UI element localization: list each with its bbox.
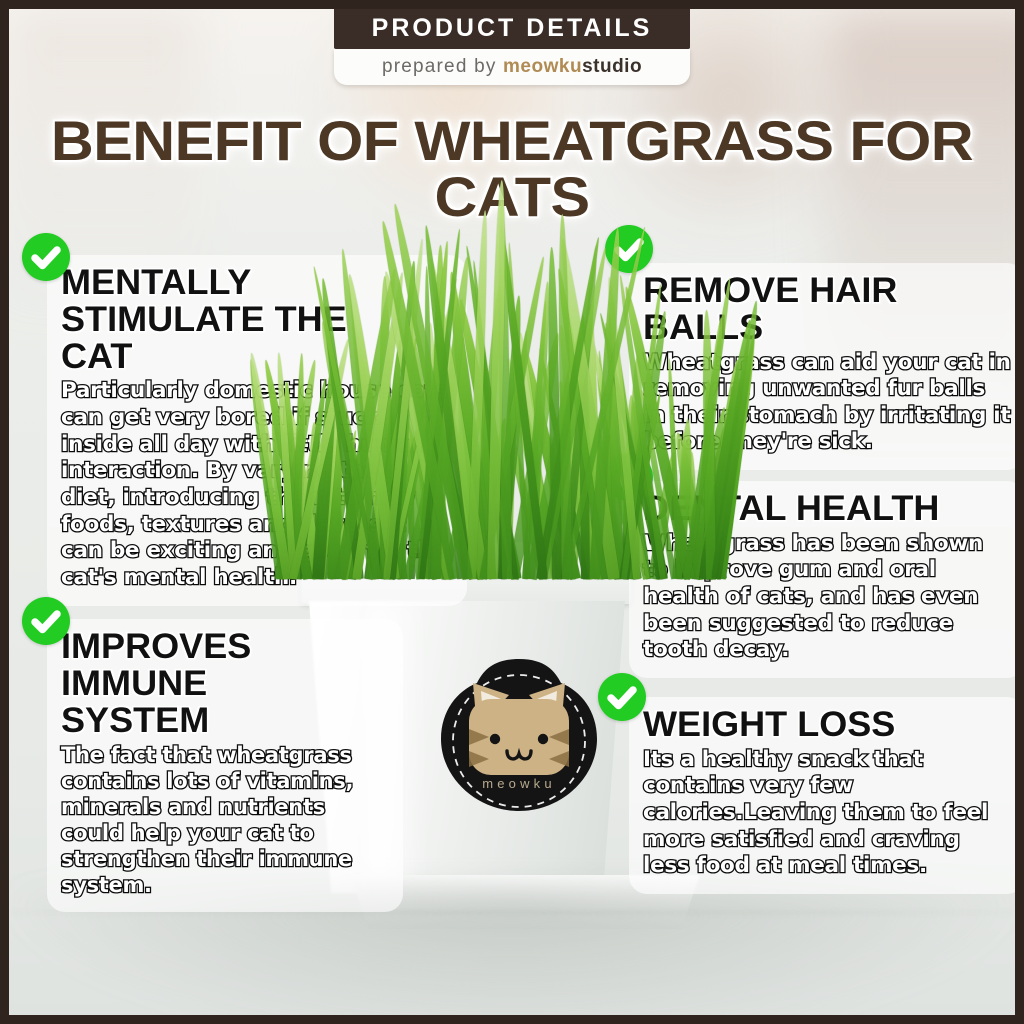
benefit-title-weight-loss: WEIGHT LOSS bbox=[643, 707, 1022, 744]
sticker-brand-text: meowku bbox=[482, 776, 556, 791]
prepared-by-line: prepared by meowkustudio bbox=[334, 49, 690, 85]
product-details-label: PRODUCT DETAILS bbox=[334, 9, 690, 49]
header-banner: PRODUCT DETAILS prepared by meowkustudio bbox=[334, 9, 690, 85]
benefit-title-remove-hair-balls: REMOVE HAIR BALLS bbox=[643, 273, 1022, 347]
benefit-body-improves-immune-system: The fact that wheatgrass contains lots o… bbox=[61, 742, 389, 898]
meowku-logo-sticker: meowku bbox=[433, 655, 605, 819]
check-circle-icon-mentally-stimulate-the-cat bbox=[22, 233, 70, 281]
check-circle-icon-improves-immune-system bbox=[22, 597, 70, 645]
page-title-wrap: BENEFIT OF WHEATGRASS FOR CATS bbox=[9, 113, 1015, 225]
check-circle-icon-weight-loss bbox=[598, 673, 646, 721]
brand-name-light: meowku bbox=[503, 56, 582, 77]
benefit-title-improves-immune-system: IMPROVES IMMUNE SYSTEM bbox=[61, 629, 360, 739]
infographic-frame: meowku PRODUCT DETAILS prepared by meowk… bbox=[0, 0, 1024, 1024]
benefit-body-weight-loss: Its a healthy snack that contains very f… bbox=[643, 747, 1011, 880]
page-title: BENEFIT OF WHEATGRASS FOR CATS bbox=[0, 113, 1024, 225]
prepared-by-text: prepared by bbox=[382, 56, 497, 77]
benefit-body-remove-hair-balls: Wheatgrass can aid your cat in removing … bbox=[643, 350, 1011, 457]
benefit-panel-weight-loss: WEIGHT LOSS Its a healthy snack that con… bbox=[629, 697, 1024, 894]
brand-name-dark: studio bbox=[582, 56, 642, 77]
benefit-panel-improves-immune-system: IMPROVES IMMUNE SYSTEM The fact that whe… bbox=[47, 619, 403, 912]
